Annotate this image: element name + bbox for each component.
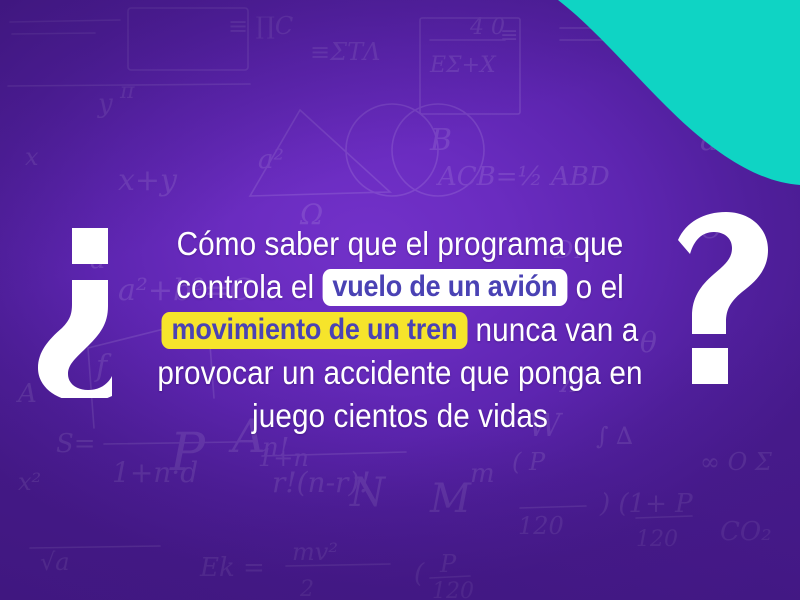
headline-line-1: Cómo saber que el programa que: [148, 222, 652, 265]
headline-line-3: movimiento de un tren nunca van a: [148, 308, 652, 351]
highlight-movimiento-tren: movimiento de un tren: [162, 312, 468, 349]
headline-line-2-post: o el: [576, 268, 624, 305]
teal-corner-blob: [540, 0, 800, 215]
headline-line-4: provocar un accidente que ponga en: [148, 351, 652, 394]
headline-line-5: juego cientos de vidas: [148, 394, 652, 437]
closing-question-mark-icon: [672, 212, 768, 384]
headline-text: Cómo saber que el programa que controla …: [148, 222, 652, 437]
opening-question-mark-icon: [38, 228, 134, 398]
headline-line-2-pre: controla el: [176, 268, 314, 305]
headline-line-3-post: nunca van a: [476, 311, 639, 348]
slide-canvas: y π ≡ ∏C ≡ΣΤΛ B ≡ 4 0 x+y a² ΕΣ+Χ a²+b²=…: [0, 0, 800, 600]
highlight-vuelo-avion: vuelo de un avión: [322, 269, 567, 306]
headline-line-2: controla el vuelo de un avión o el: [148, 265, 652, 308]
